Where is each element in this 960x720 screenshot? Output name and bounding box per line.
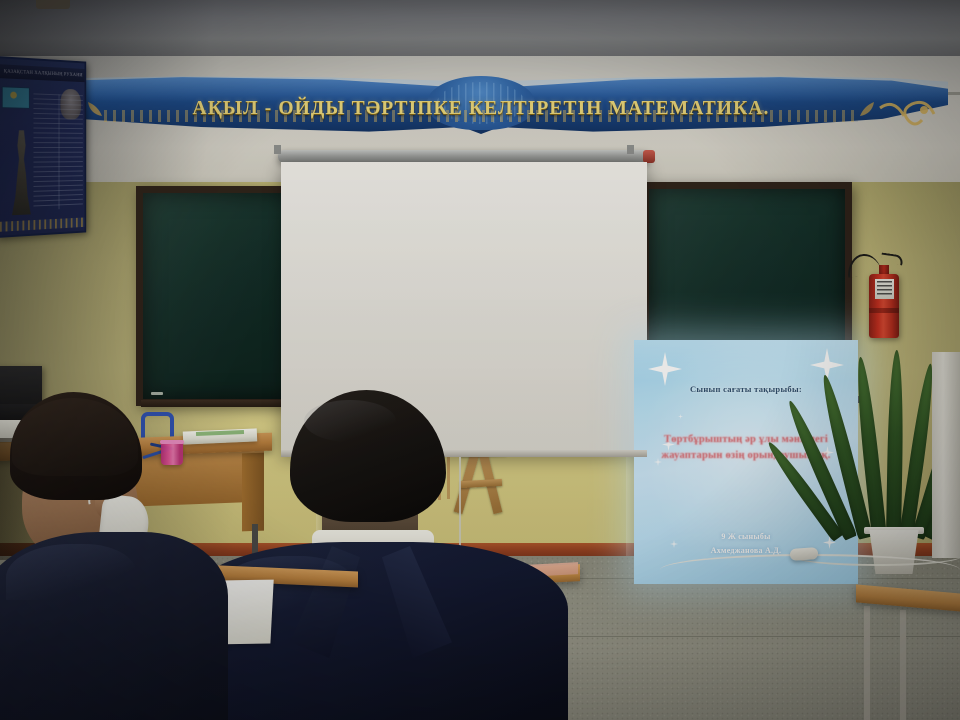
plant-leaf [886,350,904,538]
student-desk-right [856,590,960,720]
wall-poster: ҚАЗАҚСТАН ХАЛҚЫНЫҢ РУХАНИ [0,56,86,238]
blazer-highlight [6,544,136,600]
ceiling-shadow [0,0,300,62]
poster-shadow [0,58,85,236]
wall-banner: АҚЫЛ - ОЙДЫ ТӘРТІПКЕ КЕЛТІРЕТІН МАТЕМАТИ… [14,62,948,144]
student-wearing-mask [0,392,240,720]
white-cabinet [932,352,960,558]
roller-bracket [627,145,634,154]
ceiling-vent [36,0,70,9]
roller-bracket [274,145,281,154]
extinguisher-label [875,279,894,299]
classroom-photo: АҚЫЛ - ОЙДЫ ТӘРТІПКЕ КЕЛТІРЕТІН МАТЕМАТИ… [0,0,960,720]
slide-class-label: 9 Ж сыныбы [634,530,858,544]
hair-highlight [304,400,396,442]
cable-plug [790,547,819,561]
banner-text: АҚЫЛ - ОЙДЫ ТӘРТІПКЕ КЕЛТІРЕТІН МАТЕМАТИ… [14,80,948,138]
desk-leg [864,606,870,720]
desk-leg [900,610,906,720]
fire-extinguisher [869,252,899,338]
extinguisher-collar [869,308,899,313]
extinguisher-label-text [877,281,892,297]
